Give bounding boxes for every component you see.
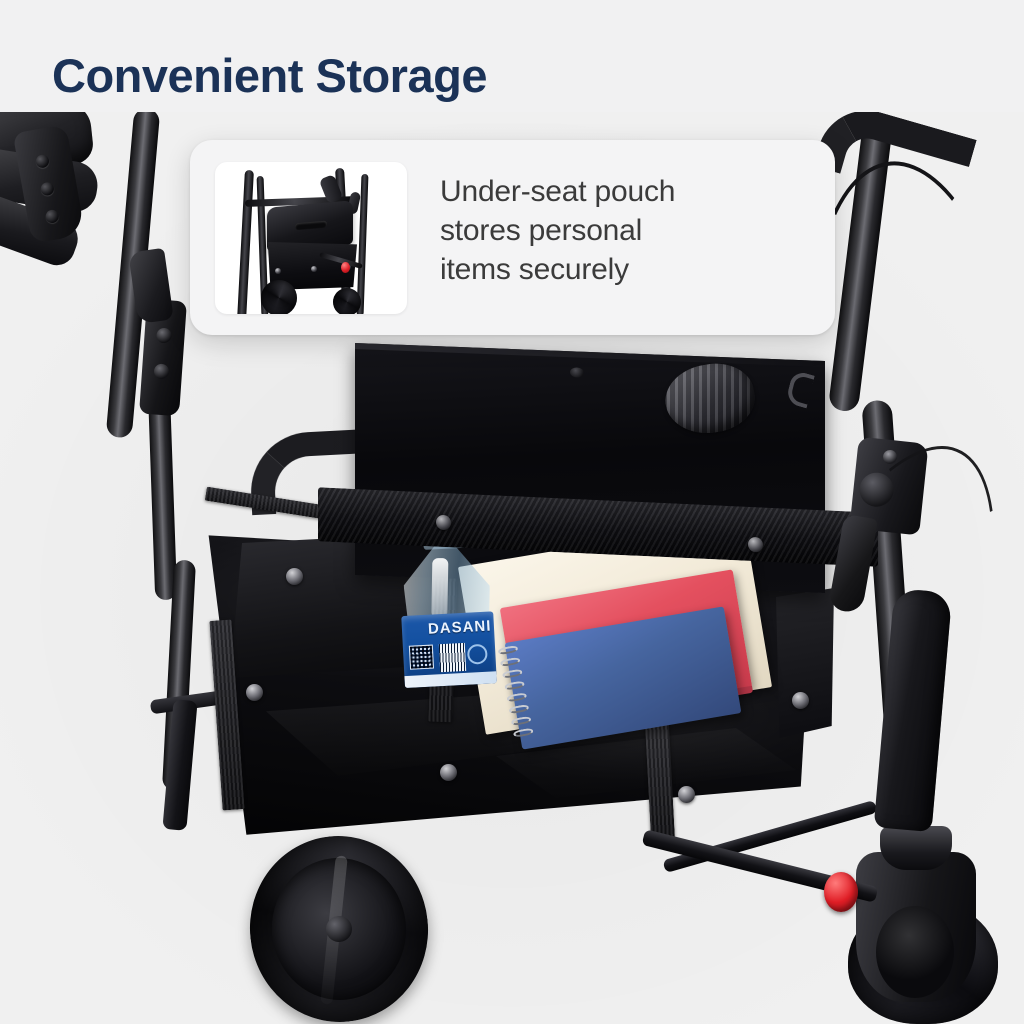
mini-front-wheel — [261, 280, 297, 314]
callout-text: Under-seat pouch stores personal items s… — [440, 172, 810, 289]
adjust-pin — [154, 363, 170, 379]
product-marketing-image: DASANI — [0, 0, 1024, 1024]
callout-thumbnail — [215, 162, 407, 314]
bracket-hole — [35, 154, 50, 169]
seat-adjust-knob — [659, 357, 761, 439]
callout-line-1: Under-seat pouch — [440, 172, 810, 211]
under-seat-pouch-callout: Under-seat pouch stores personal items s… — [190, 140, 835, 335]
wheel-hub — [325, 915, 354, 944]
caster-fork — [856, 852, 976, 1002]
callout-line-3: items securely — [440, 250, 810, 289]
mini-rollator-illustration — [215, 162, 407, 314]
mini-red-knob — [341, 262, 350, 273]
pouch-snap-rivet — [440, 764, 457, 781]
pouch-snap-rivet — [678, 786, 695, 803]
mini-seat-handle-slot — [295, 221, 327, 231]
adjust-pin — [156, 328, 172, 344]
mini-frame-tube — [237, 170, 254, 314]
mini-pouch-snap — [311, 266, 317, 272]
front-wheel — [241, 827, 437, 1024]
seat-rivet — [570, 367, 584, 378]
bracket-hole — [40, 181, 55, 196]
mini-pouch-snap — [275, 268, 281, 274]
pouch-snap-rivet — [286, 568, 303, 585]
mini-rear-wheel — [333, 288, 361, 314]
header-band: Convenient Storage — [0, 0, 1024, 112]
callout-line-2: stores personal — [440, 211, 810, 250]
rail-screw — [436, 515, 451, 531]
page-title: Convenient Storage — [52, 52, 487, 99]
pouch-snap-rivet — [246, 684, 263, 701]
bracket-hole — [45, 209, 60, 224]
rail-screw — [748, 537, 763, 553]
armrest-hardware-cluster — [0, 108, 200, 288]
